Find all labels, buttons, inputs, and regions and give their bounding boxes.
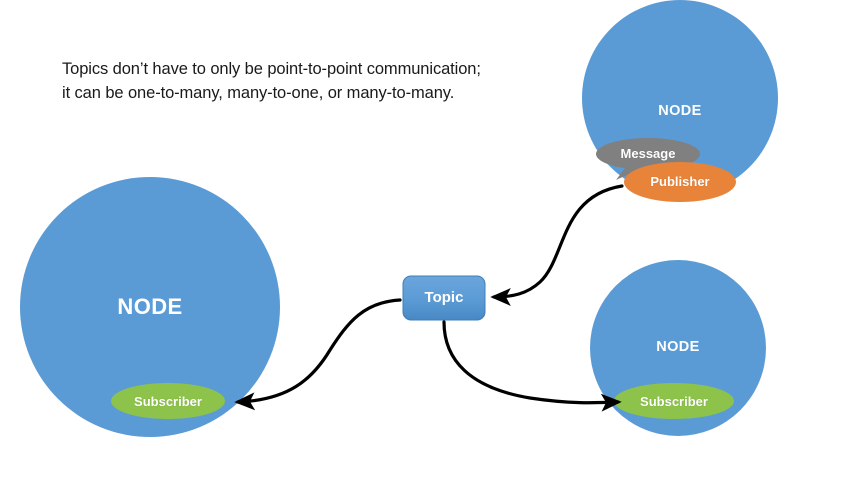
slide-canvas: Topics don’t have to only be point-to-po… — [0, 0, 854, 480]
connector-publisher-to-topic[interactable] — [494, 186, 622, 297]
subscriber-left-ellipse[interactable] — [111, 383, 225, 419]
caption-text: Topics don’t have to only be point-to-po… — [62, 58, 482, 106]
subscriber-bottom-right-ellipse[interactable] — [614, 383, 734, 419]
publisher-ellipse[interactable] — [624, 162, 736, 202]
topic-box[interactable] — [403, 276, 485, 320]
